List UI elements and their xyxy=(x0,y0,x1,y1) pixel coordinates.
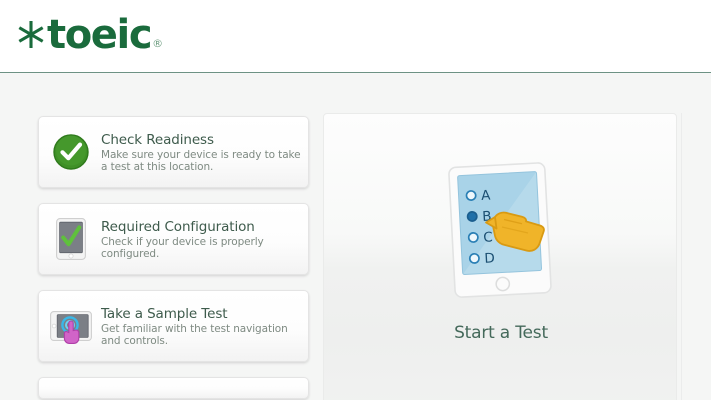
svg-text:D: D xyxy=(484,250,495,267)
card-text-block: Take a Sample Test Get familiar with the… xyxy=(101,305,308,348)
asterisk-star-icon xyxy=(16,19,46,51)
card-subtitle: Make sure your device is ready to take a… xyxy=(101,149,308,174)
card-text-block: Required Configuration Check if your dev… xyxy=(101,218,308,261)
start-test-label: Start a Test xyxy=(324,323,678,343)
action-card-list: Check Readiness Make sure your device is… xyxy=(38,116,309,400)
card-text-block: Check Readiness Make sure your device is… xyxy=(101,131,308,174)
app-header: toeic ® xyxy=(0,0,711,73)
toeic-logo: toeic ® xyxy=(16,17,163,53)
card-required-configuration[interactable]: Required Configuration Check if your dev… xyxy=(38,203,309,275)
tablet-with-touch-hand-icon xyxy=(50,303,92,349)
tablet-with-checkmark-icon xyxy=(50,216,92,262)
card-title: Take a Sample Test xyxy=(101,306,308,322)
svg-text:A: A xyxy=(481,187,492,204)
card-partial-below-fold[interactable] xyxy=(38,377,309,399)
panel-right-edge-line xyxy=(681,113,682,400)
card-subtitle: Check if your device is properly configu… xyxy=(101,236,308,261)
card-subtitle: Get familiar with the test navigation an… xyxy=(101,323,308,348)
main-content-area: Check Readiness Make sure your device is… xyxy=(0,74,711,400)
green-check-circle-icon xyxy=(50,129,92,175)
card-check-readiness[interactable]: Check Readiness Make sure your device is… xyxy=(38,116,309,188)
registered-trademark-symbol: ® xyxy=(151,37,163,53)
start-test-panel[interactable]: A B C D xyxy=(323,113,677,400)
card-take-sample-test[interactable]: Take a Sample Test Get familiar with the… xyxy=(38,290,309,362)
tablet-multiple-choice-with-pointing-hand-icon: A B C D xyxy=(442,159,560,309)
start-test-block[interactable]: A B C D xyxy=(324,159,678,343)
logo-wordmark: toeic xyxy=(47,17,151,53)
card-title: Check Readiness xyxy=(101,132,308,148)
card-title: Required Configuration xyxy=(101,219,308,235)
svg-text:C: C xyxy=(483,229,493,245)
